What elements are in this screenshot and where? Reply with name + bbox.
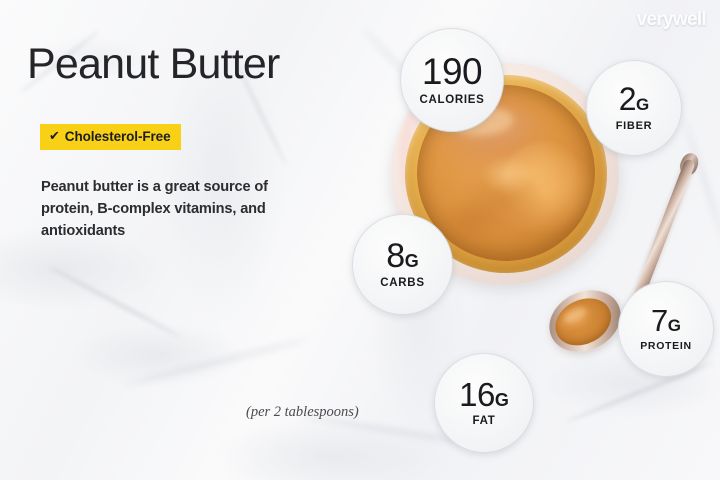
nutrient-unit: G xyxy=(405,253,419,270)
nutrient-value: 16G xyxy=(459,379,509,410)
infographic-canvas: verywell Peanut Butter ✔ Cholesterol-Fre… xyxy=(0,0,720,480)
nutrient-label: CALORIES xyxy=(419,94,484,106)
nutrient-value: 2G xyxy=(619,84,650,114)
verywell-logo: verywell xyxy=(637,9,706,31)
nutrient-number: 16 xyxy=(459,379,495,410)
nutrient-number: 8 xyxy=(386,240,404,272)
cholesterol-free-badge: ✔ Cholesterol-Free xyxy=(40,124,181,150)
nutrient-badge-fat: 16G FAT xyxy=(434,353,534,453)
nutrient-unit: G xyxy=(636,97,649,113)
nutrient-number: 2 xyxy=(619,84,636,114)
nutrient-value: 7G xyxy=(651,306,681,335)
page-title: Peanut Butter xyxy=(27,42,280,87)
check-icon: ✔ xyxy=(49,129,60,142)
nutrient-number: 190 xyxy=(422,54,482,89)
nutrient-label: FAT xyxy=(473,415,496,427)
description-text: Peanut butter is a great source of prote… xyxy=(41,176,311,243)
nutrient-unit: G xyxy=(668,318,681,334)
nutrient-label: FIBER xyxy=(616,120,653,132)
nutrient-label: CARBS xyxy=(380,277,424,289)
serving-size-note: (per 2 tablespoons) xyxy=(246,404,359,421)
nutrient-value: 190 xyxy=(422,54,482,89)
nutrient-badge-protein: 7G PROTEIN xyxy=(618,281,714,377)
badge-label: Cholesterol-Free xyxy=(65,129,171,144)
nutrient-badge-calories: 190 CALORIES xyxy=(400,28,504,132)
nutrient-badge-fiber: 2G FIBER xyxy=(586,60,682,156)
marble-vein xyxy=(122,337,308,388)
nutrient-unit: G xyxy=(495,392,509,409)
nutrient-value: 8G xyxy=(386,240,418,272)
nutrient-label: PROTEIN xyxy=(640,340,692,352)
marble-vein xyxy=(48,265,182,339)
nutrient-number: 7 xyxy=(651,306,668,335)
nutrient-badge-carbs: 8G CARBS xyxy=(352,214,453,315)
